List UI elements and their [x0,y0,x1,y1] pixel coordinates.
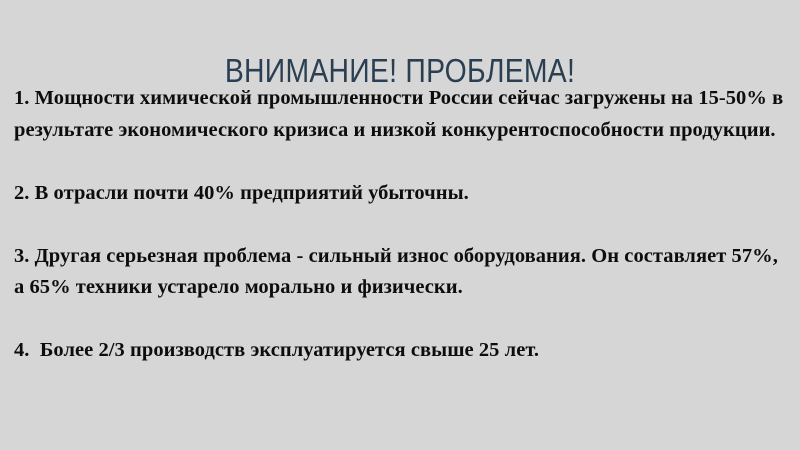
slide-body: 1. Мощности химической промышленности Ро… [14,83,786,367]
body-paragraph-3: 3. Другая серьезная проблема - сильный и… [14,241,786,304]
body-paragraph-1: 1. Мощности химической промышленности Ро… [14,83,786,146]
body-paragraph-2: 2. В отрасли почти 40% предприятий убыто… [14,178,786,210]
slide-canvas: ВНИМАНИЕ! ПРОБЛЕМА! 1. Мощности химическ… [0,0,800,450]
body-paragraph-4: 4. Более 2/3 производств эксплуатируется… [14,335,786,367]
